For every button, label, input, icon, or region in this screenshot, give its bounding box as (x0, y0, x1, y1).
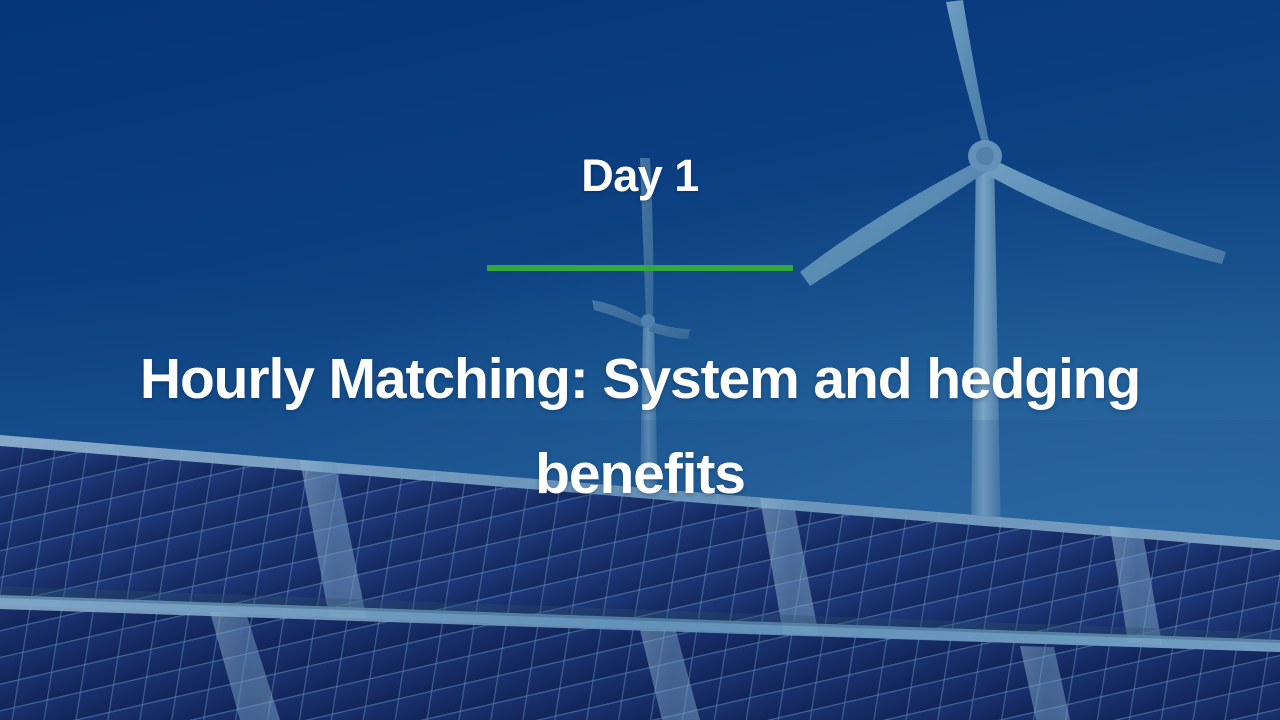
slide-content: Day 1 Hourly Matching: System and hedgin… (0, 0, 1280, 720)
slide-title-line-1: Hourly Matching: System and hedging (64, 332, 1216, 427)
accent-divider (487, 265, 793, 271)
slide-title-line-2: benefits (64, 427, 1216, 522)
slide-title: Hourly Matching: System and hedging bene… (64, 332, 1216, 522)
slide-eyebrow: Day 1 (0, 152, 1280, 199)
title-slide: Day 1 Hourly Matching: System and hedgin… (0, 0, 1280, 720)
